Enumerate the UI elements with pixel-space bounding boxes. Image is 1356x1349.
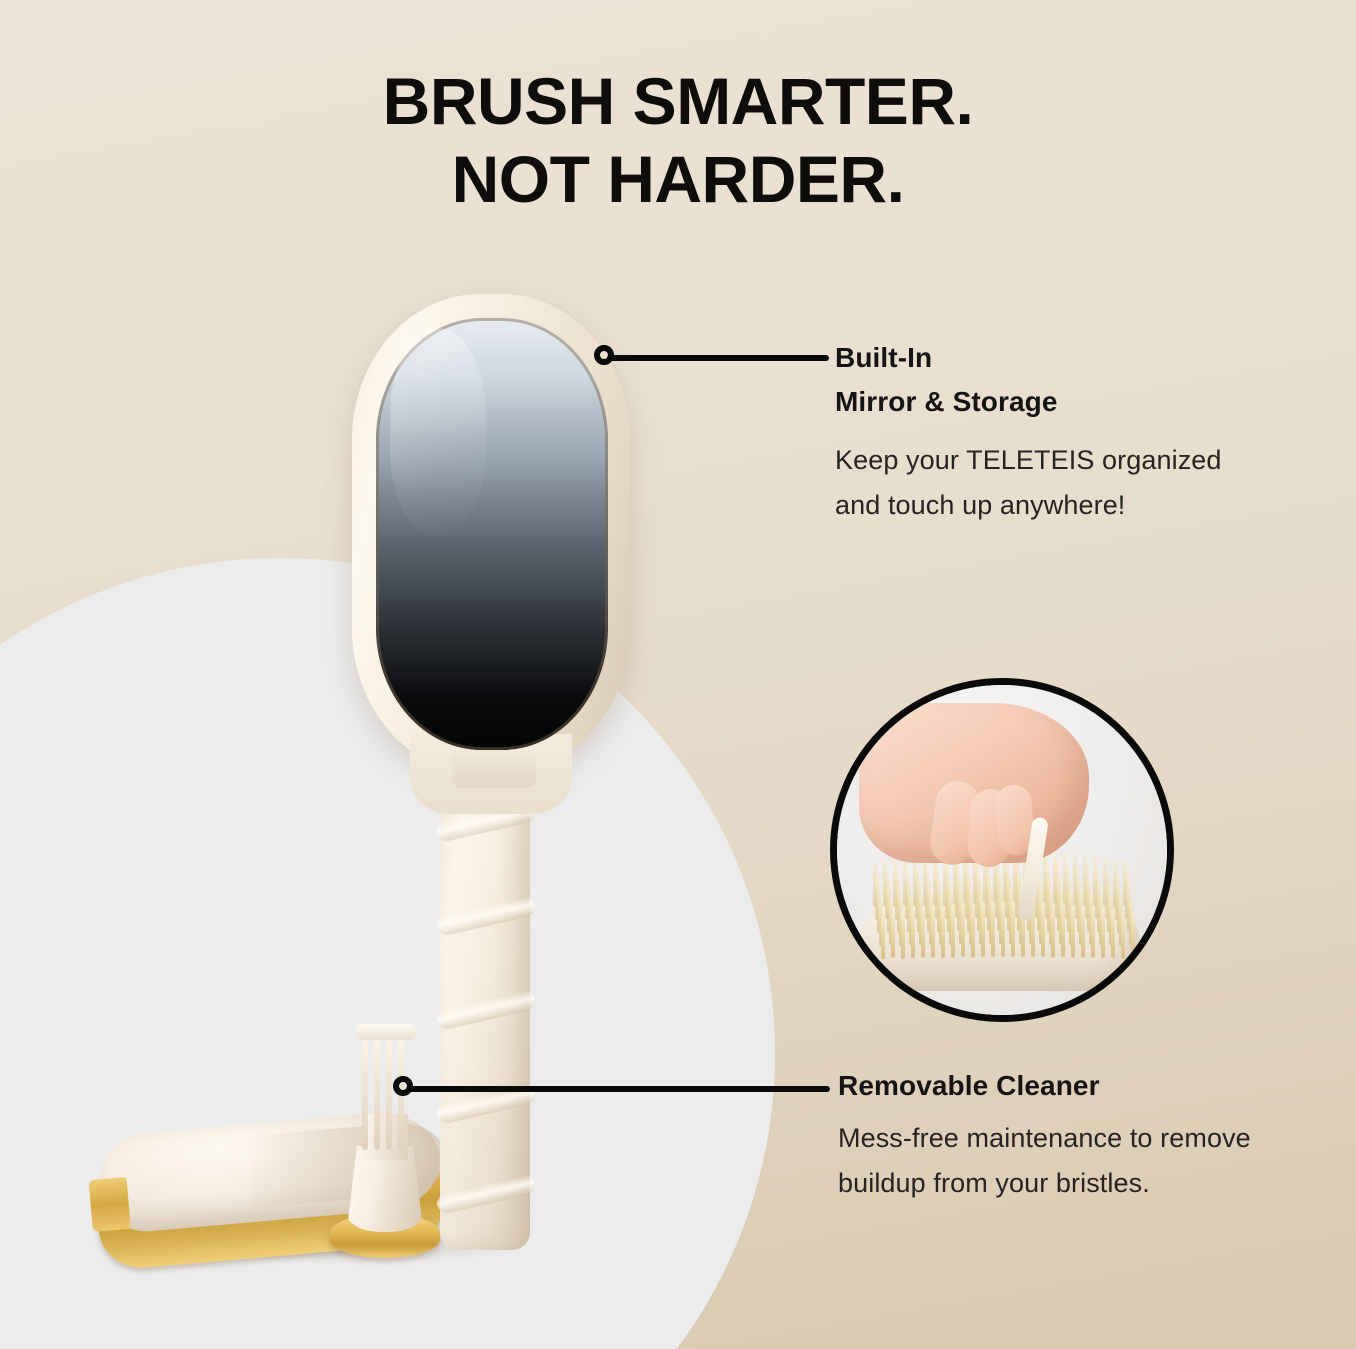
callout-mirror-title-line-2: Mirror & Storage: [835, 386, 1058, 417]
mirror-glass: [376, 318, 608, 750]
callout-cleaner-body: Mess-free maintenance to remove buildup …: [838, 1116, 1258, 1206]
inset-bristle: [921, 908, 925, 958]
cleaner-cap: [356, 1024, 416, 1040]
connector-line: [607, 355, 829, 361]
callout-mirror-storage: Built-In Mirror & Storage Keep your TELE…: [835, 336, 1235, 528]
callout-mirror-body: Keep your TELETEIS organized and touch u…: [835, 438, 1235, 528]
cleaner-tine: [386, 1032, 392, 1150]
connector-ring-icon: [393, 1076, 413, 1096]
inset-bristle: [1121, 912, 1125, 959]
callout-removable-cleaner: Removable Cleaner Mess-free maintenance …: [838, 1064, 1258, 1206]
inset-photo-cleaner-demo: [830, 678, 1174, 1022]
twisted-handle: [440, 770, 530, 1250]
inset-scene-background: [837, 685, 1167, 1015]
inset-bristle: [901, 912, 905, 959]
inset-bristle: [951, 905, 955, 958]
infographic-canvas: BRUSH SMARTER. NOT HARDER.: [0, 0, 1356, 1349]
mirror-glass-highlight: [390, 328, 486, 538]
inset-bristle: [1131, 913, 1135, 958]
inset-bristle: [1051, 903, 1055, 958]
callout-cleaner-title: Removable Cleaner: [838, 1064, 1258, 1108]
callout-mirror-title: Built-In Mirror & Storage: [835, 336, 1235, 424]
brush-head-clip: [88, 1177, 130, 1232]
removable-cleaner-tool: [330, 1018, 440, 1258]
inset-bristle: [931, 907, 935, 958]
mirror-hinge: [452, 754, 536, 788]
inset-bristle: [891, 913, 895, 958]
inset-bristle: [1081, 906, 1085, 958]
inset-bristle: [1041, 902, 1045, 957]
inset-bristle: [991, 901, 995, 957]
inset-bristle: [881, 915, 885, 959]
callout-mirror-title-line-1: Built-In: [835, 342, 932, 373]
inset-bristle: [911, 910, 915, 958]
inset-bristle: [971, 903, 975, 958]
connector-line: [406, 1086, 830, 1092]
cleaner-tine: [374, 1032, 380, 1150]
inset-bristle: [1091, 907, 1095, 958]
inset-bristle: [981, 902, 985, 957]
inset-bristle: [1101, 908, 1105, 958]
inset-bristle: [1001, 901, 1005, 957]
inset-bristle: [1111, 910, 1115, 958]
connector-ring-icon: [594, 345, 614, 365]
inset-bristle: [961, 903, 965, 957]
inset-bristle: [1011, 901, 1015, 957]
inset-bristle: [941, 906, 945, 958]
inset-bristle: [1071, 905, 1075, 958]
cleaner-tine: [362, 1032, 368, 1150]
inset-bristle: [1061, 903, 1065, 957]
